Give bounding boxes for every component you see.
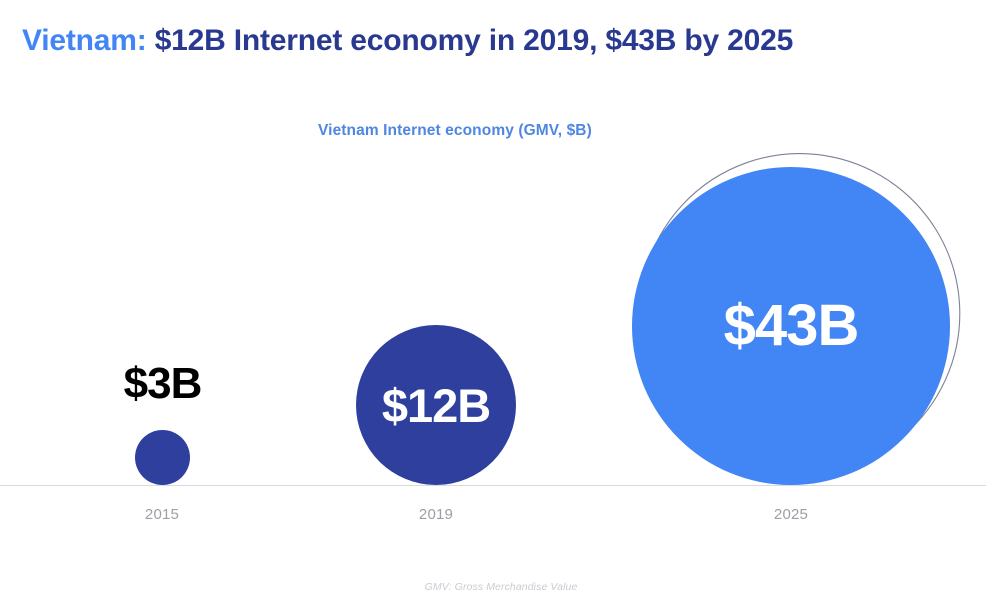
axis-tick-label-2019: 2019 [376, 506, 496, 523]
chart-footnote: GMV: Gross Merchandise Value [0, 581, 1002, 593]
axis-baseline [0, 485, 986, 486]
bubble-2019[interactable]: $12B [356, 325, 516, 485]
bubble-2015[interactable] [135, 430, 190, 485]
bubble-label-2015: $3B [92, 362, 233, 406]
bubble-chart-plot-area: $3B $12B $43B 2015 2019 2025 [0, 0, 1002, 606]
bubble-label-2019: $12B [382, 382, 490, 429]
bubble-label-2025: $43B [724, 297, 859, 355]
axis-tick-label-2015: 2015 [102, 506, 222, 523]
bubble-2025[interactable]: $43B [632, 167, 950, 485]
axis-tick-label-2025: 2025 [731, 506, 851, 523]
